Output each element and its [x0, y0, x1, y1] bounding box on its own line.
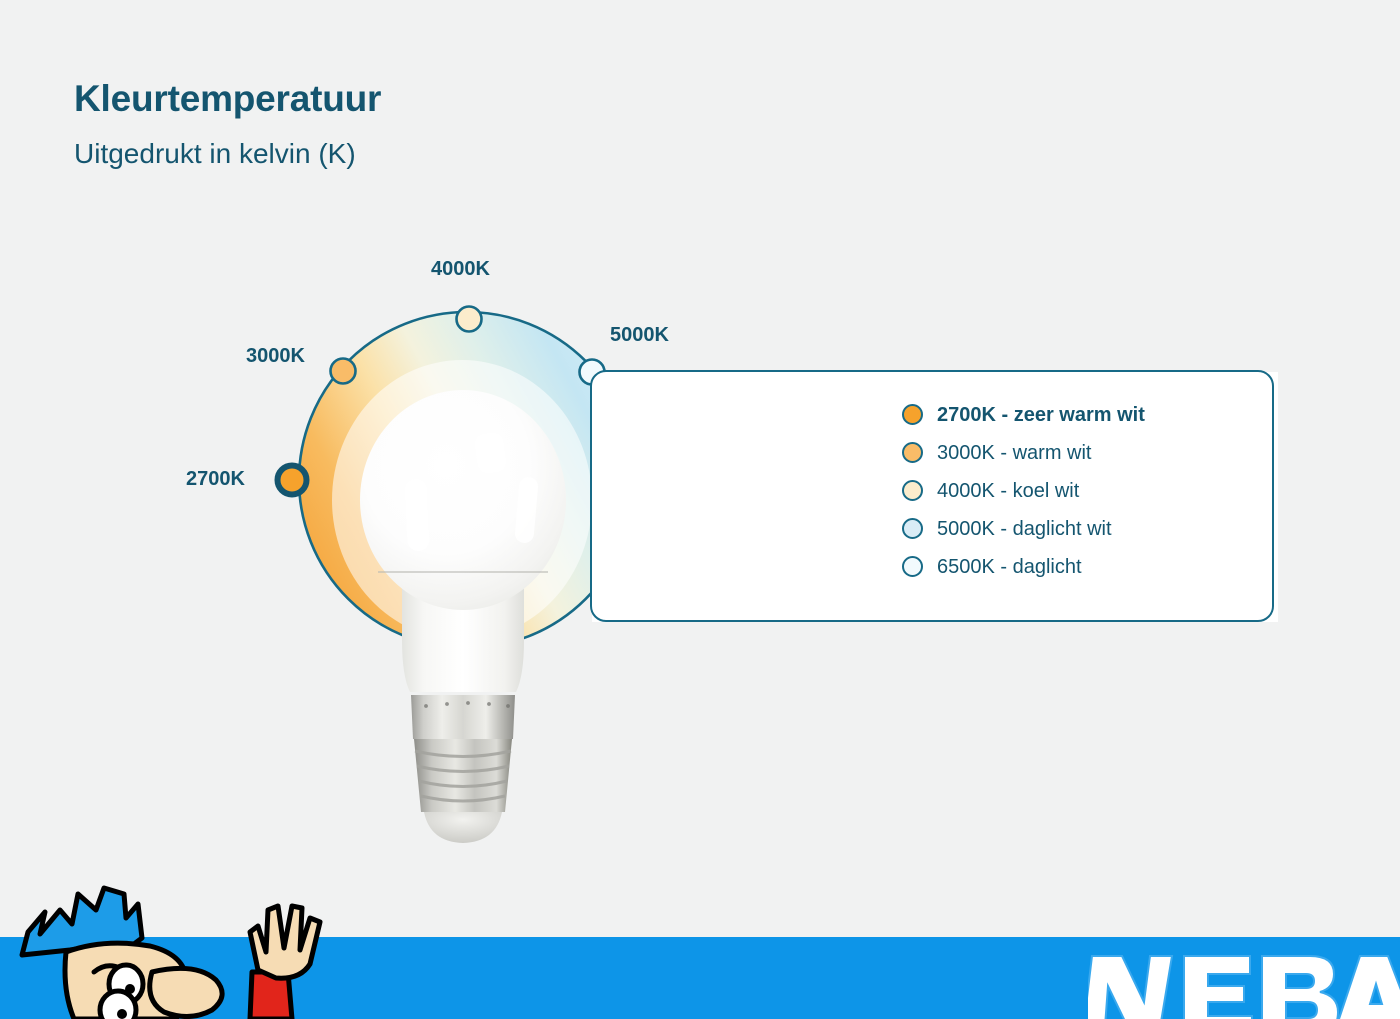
legend-item[interactable]: 2700K - zeer warm wit	[902, 399, 1145, 430]
legend-item-label: 6500K - daglicht	[937, 557, 1082, 577]
legend-item[interactable]: 5000K - daglicht wit	[902, 513, 1145, 544]
kelvin-legend-card: 2700K - zeer warm wit3000K - warm wit400…	[590, 370, 1274, 622]
legend-color-dot	[902, 442, 923, 463]
mascot-nose	[150, 968, 222, 1016]
ring-label-4000k: 4000K	[431, 258, 490, 281]
legend-item-label: 2700K - zeer warm wit	[937, 405, 1145, 425]
marker-2700k-selected[interactable]	[278, 466, 307, 495]
kelvin-legend-list: 2700K - zeer warm wit3000K - warm wit400…	[902, 399, 1145, 582]
ring-label-5000k: 5000K	[610, 324, 669, 347]
legend-item[interactable]: 6500K - daglicht	[902, 551, 1145, 582]
legend-color-dot	[902, 404, 923, 425]
legend-color-dot	[902, 480, 923, 501]
mascot-hand	[250, 906, 320, 978]
legend-item-label: 4000K - koel wit	[937, 481, 1079, 501]
legend-color-dot	[902, 518, 923, 539]
legend-item-label: 3000K - warm wit	[937, 443, 1092, 463]
marker-3000k[interactable]	[331, 359, 356, 384]
infographic-canvas: Kleurtemperatuur Uitgedrukt in kelvin (K…	[0, 0, 1400, 1019]
legend-item[interactable]: 3000K - warm wit	[902, 437, 1145, 468]
marker-4000k[interactable]	[457, 307, 482, 332]
weba-mascot	[0, 880, 360, 1019]
legend-item[interactable]: 4000K - koel wit	[902, 475, 1145, 506]
ring-label-3000k: 3000K	[246, 345, 305, 368]
weba-logo	[1088, 950, 1400, 1019]
legend-item-label: 5000K - daglicht wit	[937, 519, 1112, 539]
legend-color-dot	[902, 556, 923, 577]
ring-label-2700k: 2700K	[186, 468, 245, 491]
